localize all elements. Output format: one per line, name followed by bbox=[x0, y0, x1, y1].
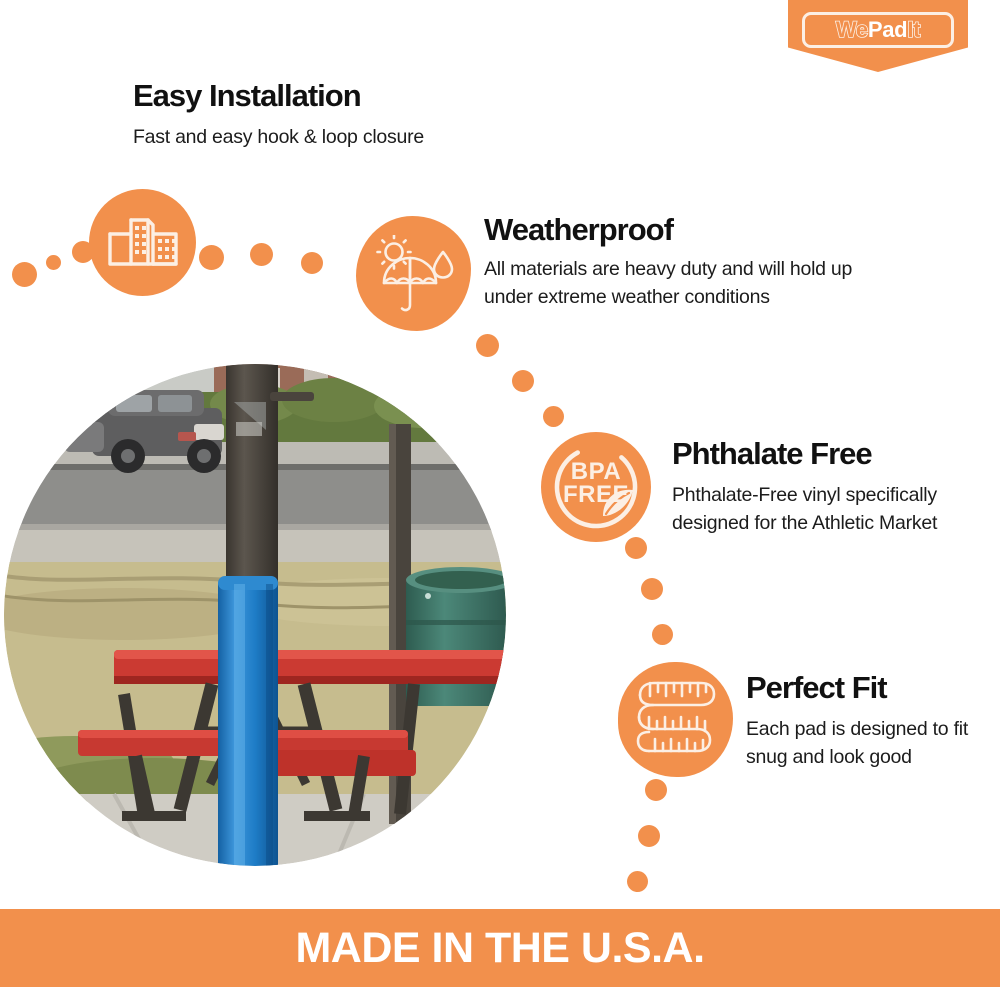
measuring-tape-icon bbox=[631, 676, 721, 764]
feature-description-phthalate-free: Phthalate-Free vinyl specifically design… bbox=[672, 482, 942, 537]
feature-icon-bubble-perfect-fit[interactable] bbox=[618, 662, 733, 777]
feature-description-weatherproof: All materials are heavy duty and will ho… bbox=[484, 256, 904, 311]
feature-icon-bubble-easy-installation[interactable] bbox=[89, 189, 196, 296]
trail-dot bbox=[46, 255, 61, 270]
feature-title-easy-installation: Easy Installation bbox=[133, 80, 361, 113]
made-in-usa-banner: MADE IN THE U.S.A. bbox=[0, 909, 1000, 987]
trail-dot bbox=[301, 252, 323, 274]
logo-text-it: It bbox=[907, 17, 920, 42]
logo-text-we: We bbox=[836, 17, 868, 42]
feature-title-weatherproof: Weatherproof bbox=[484, 214, 673, 247]
trail-dot bbox=[250, 243, 273, 266]
trail-dot bbox=[638, 825, 660, 847]
bpa-free-icon-label-line2: FREE bbox=[541, 483, 651, 507]
trail-dot bbox=[476, 334, 499, 357]
umbrella-sun-raindrop-icon bbox=[372, 235, 456, 313]
trail-dot bbox=[652, 624, 673, 645]
bpa-free-leaf-icon: BPA FREE bbox=[541, 432, 651, 542]
feature-description-perfect-fit: Each pad is designed to fit snug and loo… bbox=[746, 716, 978, 771]
feature-title-phthalate-free: Phthalate Free bbox=[672, 438, 872, 471]
feature-icon-bubble-phthalate-free[interactable]: BPA FREE bbox=[541, 432, 651, 542]
logo-outline-box: WePadIt bbox=[802, 12, 954, 48]
trail-dot bbox=[199, 245, 224, 270]
trail-dot bbox=[641, 578, 663, 600]
trail-dot bbox=[543, 406, 564, 427]
infographic-page: WePadIt Easy Installation Fast and easy … bbox=[0, 0, 1000, 987]
logo-text-pad: Pad bbox=[868, 17, 907, 42]
trail-dot bbox=[627, 871, 648, 892]
trail-dot bbox=[12, 262, 37, 287]
trail-dot bbox=[645, 779, 667, 801]
brand-logo[interactable]: WePadIt bbox=[788, 0, 968, 72]
feature-title-perfect-fit: Perfect Fit bbox=[746, 672, 887, 705]
made-in-usa-text: MADE IN THE U.S.A. bbox=[295, 927, 704, 970]
building-icon bbox=[107, 212, 179, 274]
feature-description-easy-installation: Fast and easy hook & loop closure bbox=[133, 124, 553, 152]
trail-dot bbox=[512, 370, 534, 392]
feature-icon-bubble-weatherproof[interactable] bbox=[356, 216, 471, 331]
product-photo bbox=[4, 364, 506, 866]
